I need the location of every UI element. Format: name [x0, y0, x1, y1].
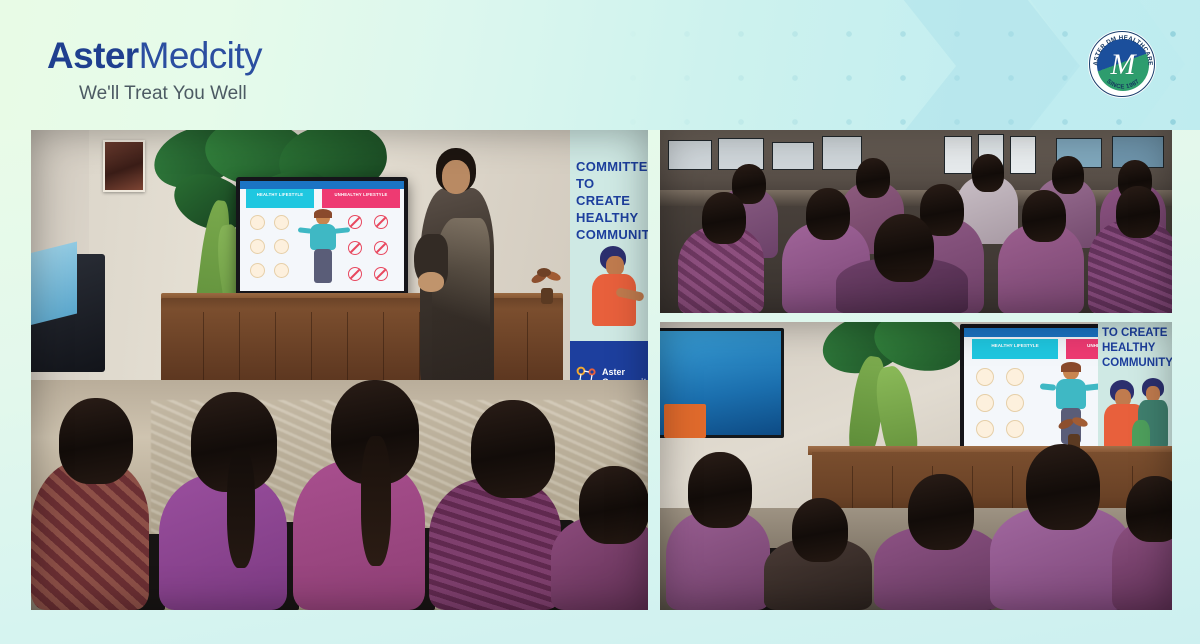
- framed-picture: [103, 140, 145, 192]
- tv-slide: HEALTHY LIFESTYLE UNHEALTHY LIFESTYLE: [240, 181, 404, 291]
- seal-ring-text-bottom: SINCE 1987: [1090, 32, 1156, 98]
- slide-healthy-icon: [250, 263, 265, 278]
- photo-collage: HEALTHY LIFESTYLE UNHEALTHY LIFESTYLE: [0, 130, 1200, 644]
- banner-line-4: COMMUNITY: [576, 226, 648, 243]
- slide-healthy-label: HEALTHY LIFESTYLE: [972, 339, 1058, 349]
- banner-line-1: TO CREATE: [1102, 326, 1172, 341]
- slide-unhealthy-icon: [374, 215, 388, 229]
- slide-healthy-header: HEALTHY LIFESTYLE: [246, 189, 314, 208]
- wall-frame: [822, 136, 862, 170]
- slide-healthy-icon: [976, 420, 994, 438]
- banner-illustration: [1102, 374, 1168, 454]
- slide-healthy-icon: [1006, 368, 1024, 386]
- slide-unhealthy-icon: [348, 267, 362, 281]
- console-decor-plant: [529, 270, 563, 306]
- banner-headline: TO CREATE HEALTHY COMMUNITY: [1102, 326, 1172, 371]
- slide-healthy-icon: [1006, 394, 1024, 412]
- slide-unhealthy-icon: [348, 241, 362, 255]
- main-presentation-photo: HEALTHY LIFESTYLE UNHEALTHY LIFESTYLE: [31, 130, 648, 610]
- side-screen-glare: [31, 242, 77, 327]
- slide-unhealthy-icon: [374, 267, 388, 281]
- screen-image-content: [664, 404, 706, 438]
- slide-healthy-icon: [250, 239, 265, 254]
- wooden-console: [161, 298, 563, 390]
- slide-healthy-icon: [976, 394, 994, 412]
- banner-line-3: HEALTHY: [576, 209, 648, 226]
- speaker-presenter: [414, 148, 500, 398]
- slide-healthy-icon: [274, 263, 289, 278]
- wall-frame: [668, 140, 712, 170]
- wall-frame: [772, 142, 814, 170]
- banner-line-2: HEALTHY: [1102, 341, 1172, 356]
- banner-illustration: [586, 246, 646, 342]
- page-header: AsterMedcity We'll Treat You Well M ASTE…: [0, 0, 1200, 130]
- wall-frame: [944, 136, 972, 174]
- wall-frame: [1010, 136, 1036, 174]
- slide-unhealthy-header: UNHEALTHY LIFESTYLE: [322, 189, 400, 208]
- room-wide-photo: HEALTHY LIFESTYLE UNHEALTHY LIFESTYLE: [660, 322, 1172, 610]
- slide-healthy-icon: [274, 239, 289, 254]
- slide-unhealthy-icon: [374, 241, 388, 255]
- slide-woman-illustration: [306, 211, 340, 283]
- brand-name-primary: Aster: [47, 35, 139, 76]
- slide-healthy-icon: [1006, 420, 1024, 438]
- brand-name-secondary: Medcity: [139, 35, 262, 76]
- banner-line-1: COMMITTED: [576, 158, 648, 175]
- slide-top-bar: [240, 181, 404, 189]
- aster-dm-healthcare-seal-icon: M ASTER DM HEALTHCARE SINCE 1987: [1089, 31, 1155, 97]
- banner-headline: COMMITTED TO CREATE HEALTHY COMMUNITY: [576, 158, 648, 243]
- slide-healthy-label: HEALTHY LIFESTYLE: [246, 189, 314, 198]
- slide-healthy-icon: [976, 368, 994, 386]
- banner-line-3: COMMUNITY: [1102, 356, 1172, 371]
- brand-tagline: We'll Treat You Well: [79, 82, 262, 106]
- slide-unhealthy-label: UNHEALTHY LIFESTYLE: [322, 189, 400, 198]
- audience-photo: [660, 130, 1172, 313]
- slide-unhealthy-icon: [348, 215, 362, 229]
- slide-healthy-icon: [250, 215, 265, 230]
- brand-lockup: AsterMedcity We'll Treat You Well: [47, 34, 262, 106]
- wall-tv: HEALTHY LIFESTYLE UNHEALTHY LIFESTYLE: [236, 177, 408, 301]
- banner-line-2: TO CREATE: [576, 175, 648, 209]
- svg-text:SINCE 1987: SINCE 1987: [1105, 78, 1141, 90]
- slide-healthy-icon: [274, 215, 289, 230]
- brand-wordmark: AsterMedcity: [47, 34, 262, 78]
